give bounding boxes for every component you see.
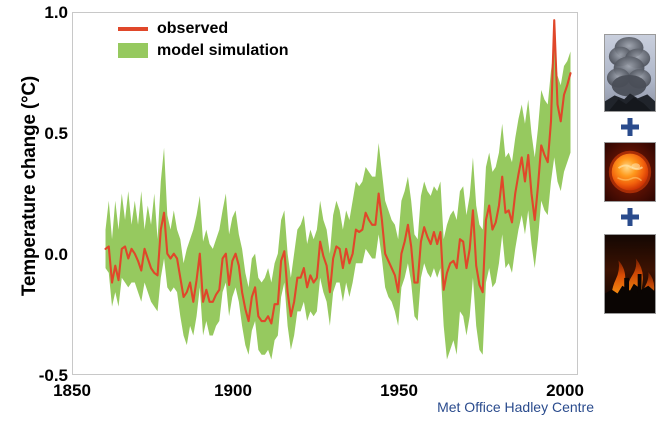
legend-item-model-simulation: model simulation <box>118 40 289 61</box>
y-tick-label-2: 0.5 <box>4 124 68 144</box>
solar-activity-photo <box>604 142 656 202</box>
chart-canvas <box>73 13 577 374</box>
x-tick-label-1850: 1850 <box>27 381 117 401</box>
y-tick-label-3: 0.0 <box>4 245 68 265</box>
legend-swatch-box-icon <box>118 43 148 58</box>
x-tick-label-2000: 2000 <box>520 381 610 401</box>
climate-attribution-figure: Temperature change (°C) 1.0 0.5 0.0 -0.5… <box>0 0 671 425</box>
plus-sign-icon-2 <box>604 202 656 232</box>
industrial-emissions-photo <box>604 234 656 314</box>
x-tick-label-1900: 1900 <box>188 381 278 401</box>
legend-label-model-simulation: model simulation <box>157 42 289 60</box>
forcings-column <box>604 34 656 314</box>
y-tick-label-1: 1.0 <box>4 3 68 23</box>
attribution-text: Met Office Hadley Centre <box>402 399 594 415</box>
volcanic-eruption-photo <box>604 34 656 112</box>
x-tick-label-1950: 1950 <box>354 381 444 401</box>
legend-item-observed: observed <box>118 18 289 39</box>
model-simulation-band <box>106 47 571 360</box>
legend: observed model simulation <box>118 18 289 62</box>
legend-label-observed: observed <box>157 20 228 38</box>
legend-swatch-line-icon <box>118 27 148 31</box>
y-axis-title: Temperature change (°C) <box>19 31 41 341</box>
plot-area <box>72 12 578 375</box>
plus-sign-icon-1 <box>604 112 656 142</box>
